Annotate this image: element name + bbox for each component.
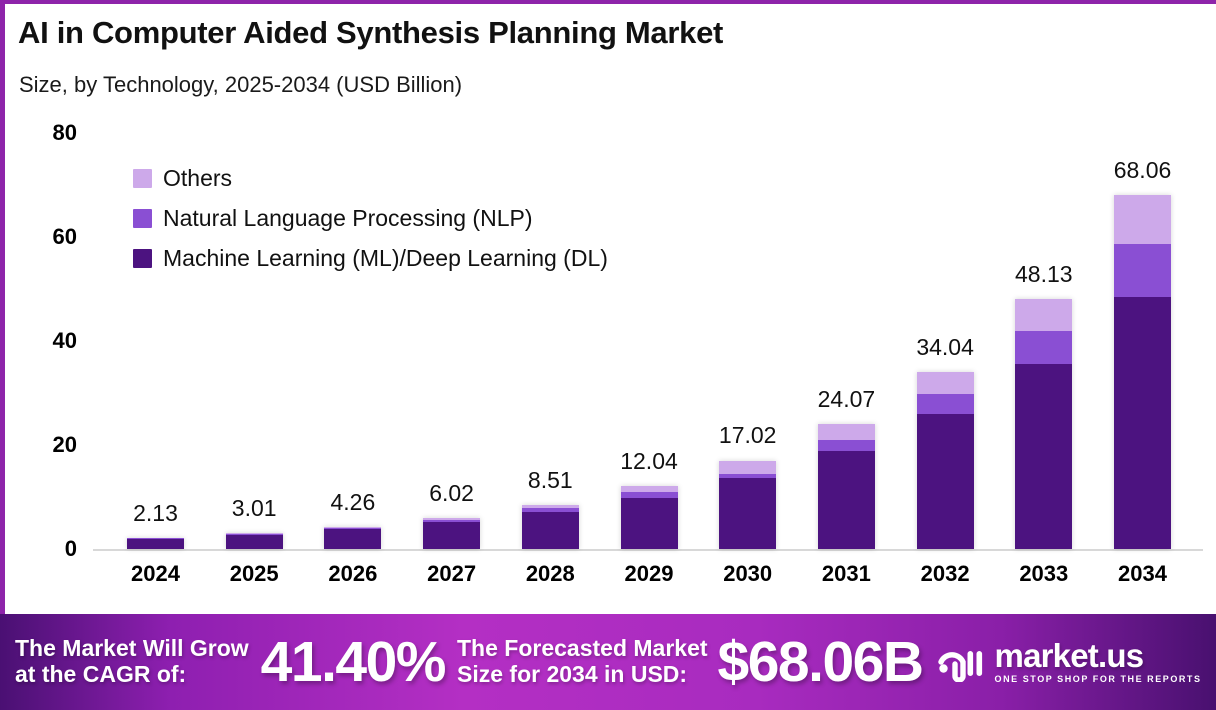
stacked-bar-2030[interactable]: [719, 461, 776, 550]
bar-segment-2025-s0: [226, 535, 283, 549]
brand-text: market.us ONE STOP SHOP FOR THE REPORTS: [995, 640, 1202, 684]
bar-group-2025[interactable]: 3.012025: [226, 4, 283, 614]
bar-group-2030[interactable]: 17.022030: [719, 4, 776, 614]
cagr-caption-line2: at the CAGR of:: [15, 662, 249, 688]
footer-banner: The Market Will Grow at the CAGR of: 41.…: [0, 614, 1216, 710]
forecast-caption-line2: Size for 2034 in USD:: [457, 662, 708, 688]
bar-segment-2034-s1: [1114, 244, 1171, 297]
bar-segment-2033-s2: [1015, 299, 1072, 331]
stacked-bar-2032[interactable]: [917, 372, 974, 549]
bar-segment-2028-s0: [522, 512, 579, 549]
brand-name: market.us: [995, 640, 1202, 672]
bar-segment-2024-s0: [127, 539, 184, 549]
bar-group-2033[interactable]: 48.132033: [1015, 4, 1072, 614]
bar-segment-2027-s0: [423, 522, 480, 549]
y-axis-tick-60: 60: [17, 224, 77, 250]
bar-value-label-2029: 12.04: [579, 448, 719, 475]
stacked-bar-2027[interactable]: [423, 518, 480, 549]
bar-segment-2029-s0: [621, 498, 678, 549]
bar-segment-2034-s0: [1114, 297, 1171, 549]
brand-tagline: ONE STOP SHOP FOR THE REPORTS: [995, 674, 1202, 684]
bar-value-label-2033: 48.13: [974, 261, 1114, 288]
y-axis-tick-20: 20: [17, 432, 77, 458]
bar-group-2026[interactable]: 4.262026: [324, 4, 381, 614]
bar-segment-2032-s0: [917, 414, 974, 549]
cagr-caption-line1: The Market Will Grow: [15, 636, 249, 662]
bar-segment-2031-s0: [818, 451, 875, 549]
y-axis-tick-0: 0: [17, 536, 77, 562]
stacked-bar-2029[interactable]: [621, 486, 678, 549]
bar-group-2024[interactable]: 2.132024: [127, 4, 184, 614]
stacked-bar-2028[interactable]: [522, 505, 579, 549]
stacked-bar-2024[interactable]: [127, 538, 184, 549]
bar-segment-2030-s0: [719, 478, 776, 549]
stacked-bar-2025[interactable]: [226, 533, 283, 549]
bar-group-2027[interactable]: 6.022027: [423, 4, 480, 614]
bar-value-label-2034: 68.06: [1073, 157, 1213, 184]
bar-value-label-2031: 24.07: [776, 386, 916, 413]
bar-segment-2026-s0: [324, 529, 381, 549]
bar-segment-2032-s1: [917, 394, 974, 415]
bar-chart-plot: 020406080 Others Natural Language Proces…: [5, 4, 1216, 614]
bar-segment-2033-s0: [1015, 364, 1072, 549]
y-axis-tick-40: 40: [17, 328, 77, 354]
bar-group-2028[interactable]: 8.512028: [522, 4, 579, 614]
stacked-bar-2031[interactable]: [818, 424, 875, 549]
forecast-caption: The Forecasted Market Size for 2034 in U…: [457, 636, 708, 688]
bar-segment-2033-s1: [1015, 331, 1072, 364]
forecast-value: $68.06B: [718, 634, 923, 691]
x-axis-tick-2034: 2034: [1073, 561, 1213, 587]
stacked-bar-2033[interactable]: [1015, 299, 1072, 549]
bar-group-2034[interactable]: 68.062034: [1114, 4, 1171, 614]
chart-infographic: AI in Computer Aided Synthesis Planning …: [0, 0, 1216, 706]
cagr-value: 41.40%: [261, 634, 445, 691]
cagr-caption: The Market Will Grow at the CAGR of:: [15, 636, 249, 688]
bar-group-2029[interactable]: 12.042029: [621, 4, 678, 614]
stacked-bar-2026[interactable]: [324, 527, 381, 549]
brand-logo[interactable]: market.us ONE STOP SHOP FOR THE REPORTS: [937, 640, 1202, 684]
bar-segment-2032-s2: [917, 372, 974, 394]
bar-value-label-2030: 17.02: [678, 422, 818, 449]
bar-segment-2034-s2: [1114, 195, 1171, 244]
bar-group-2031[interactable]: 24.072031: [818, 4, 875, 614]
bar-group-2032[interactable]: 34.042032: [917, 4, 974, 614]
market-us-logo-icon: [937, 642, 985, 682]
stacked-bar-2034[interactable]: [1114, 195, 1171, 549]
bar-segment-2030-s2: [719, 461, 776, 474]
bar-value-label-2032: 34.04: [875, 334, 1015, 361]
y-axis-tick-80: 80: [17, 120, 77, 146]
bar-segment-2031-s2: [818, 424, 875, 440]
forecast-caption-line1: The Forecasted Market: [457, 636, 708, 662]
bar-segment-2031-s1: [818, 440, 875, 451]
